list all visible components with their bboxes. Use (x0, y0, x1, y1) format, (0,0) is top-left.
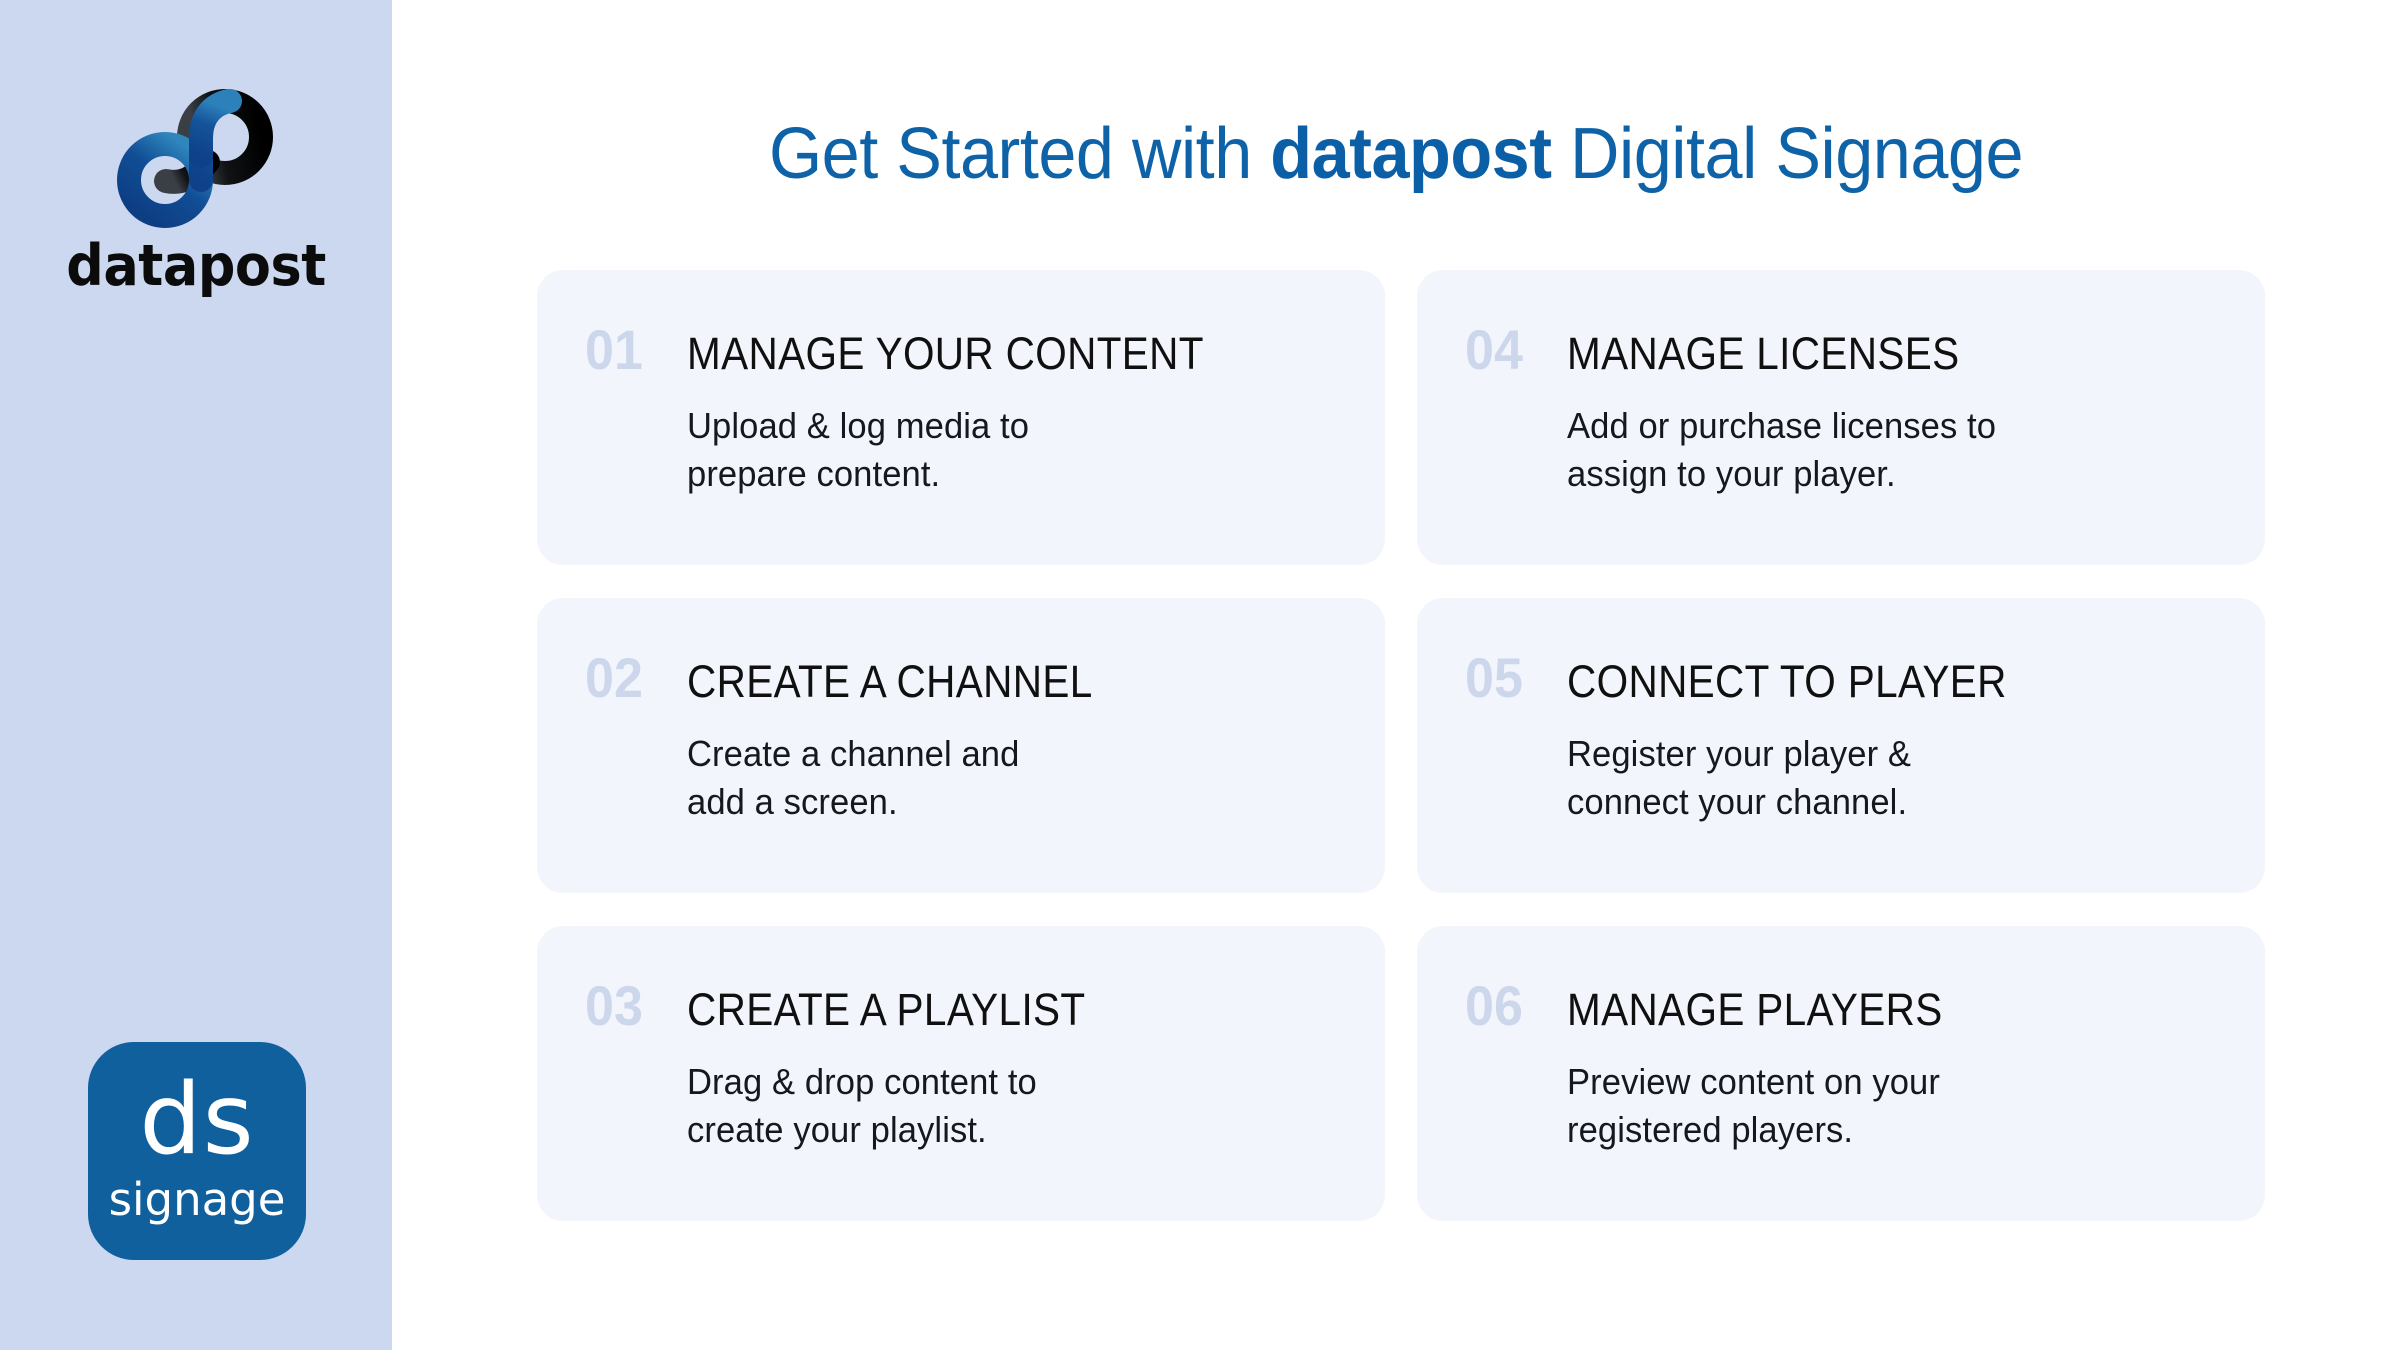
page-title-prefix: Get Started with (769, 114, 1270, 194)
step-header: 05 CONNECT TO PLAYER (1465, 650, 2225, 706)
step-title: CREATE A PLAYLIST (687, 987, 1086, 1032)
step-title: MANAGE YOUR CONTENT (687, 331, 1204, 376)
step-description: Register your player & connect your chan… (1567, 730, 2199, 825)
datapost-infinity-logo-icon (108, 80, 284, 232)
step-number: 06 (1465, 978, 1539, 1034)
step-card-04[interactable]: 04 MANAGE LICENSES Add or purchase licen… (1417, 270, 2265, 565)
ds-signage-icon-label-ds: ds (139, 1074, 254, 1167)
step-description: Preview content on your registered playe… (1567, 1058, 2199, 1153)
step-card-01[interactable]: 01 MANAGE YOUR CONTENT Upload & log medi… (537, 270, 1385, 565)
steps-grid: 01 MANAGE YOUR CONTENT Upload & log medi… (537, 270, 2400, 1221)
getting-started-slide: datapost ds signage Get Started with dat… (0, 0, 2400, 1350)
step-header: 06 MANAGE PLAYERS (1465, 978, 2225, 1034)
step-header: 04 MANAGE LICENSES (1465, 322, 2225, 378)
step-header: 01 MANAGE YOUR CONTENT (585, 322, 1345, 378)
step-title: MANAGE LICENSES (1567, 331, 1960, 376)
step-description: Drag & drop content to create your playl… (687, 1058, 1319, 1153)
step-card-02[interactable]: 02 CREATE A CHANNEL Create a channel and… (537, 598, 1385, 893)
step-description: Add or purchase licenses to assign to yo… (1567, 402, 2199, 497)
page-title: Get Started with datapost Digital Signag… (442, 118, 2350, 190)
brand-wordmark: datapost (66, 238, 326, 295)
step-header: 02 CREATE A CHANNEL (585, 650, 1345, 706)
ds-signage-app-icon[interactable]: ds signage (88, 1042, 306, 1260)
step-title: CREATE A CHANNEL (687, 659, 1093, 704)
step-card-05[interactable]: 05 CONNECT TO PLAYER Register your playe… (1417, 598, 2265, 893)
brand-logo: datapost (0, 80, 392, 295)
step-title: MANAGE PLAYERS (1567, 987, 1943, 1032)
step-number: 01 (585, 322, 659, 378)
page-title-suffix: Digital Signage (1552, 114, 2024, 194)
step-header: 03 CREATE A PLAYLIST (585, 978, 1345, 1034)
step-description: Create a channel and add a screen. (687, 730, 1319, 825)
step-number: 04 (1465, 322, 1539, 378)
step-card-03[interactable]: 03 CREATE A PLAYLIST Drag & drop content… (537, 926, 1385, 1221)
step-number: 02 (585, 650, 659, 706)
step-description: Upload & log media to prepare content. (687, 402, 1319, 497)
page-title-brand: datapost (1270, 114, 1551, 194)
step-number: 03 (585, 978, 659, 1034)
sidebar: datapost ds signage (0, 0, 392, 1350)
step-card-06[interactable]: 06 MANAGE PLAYERS Preview content on you… (1417, 926, 2265, 1221)
step-number: 05 (1465, 650, 1539, 706)
main-content: Get Started with datapost Digital Signag… (392, 0, 2400, 1350)
step-title: CONNECT TO PLAYER (1567, 659, 2007, 704)
ds-signage-icon-label-signage: signage (109, 1177, 286, 1222)
